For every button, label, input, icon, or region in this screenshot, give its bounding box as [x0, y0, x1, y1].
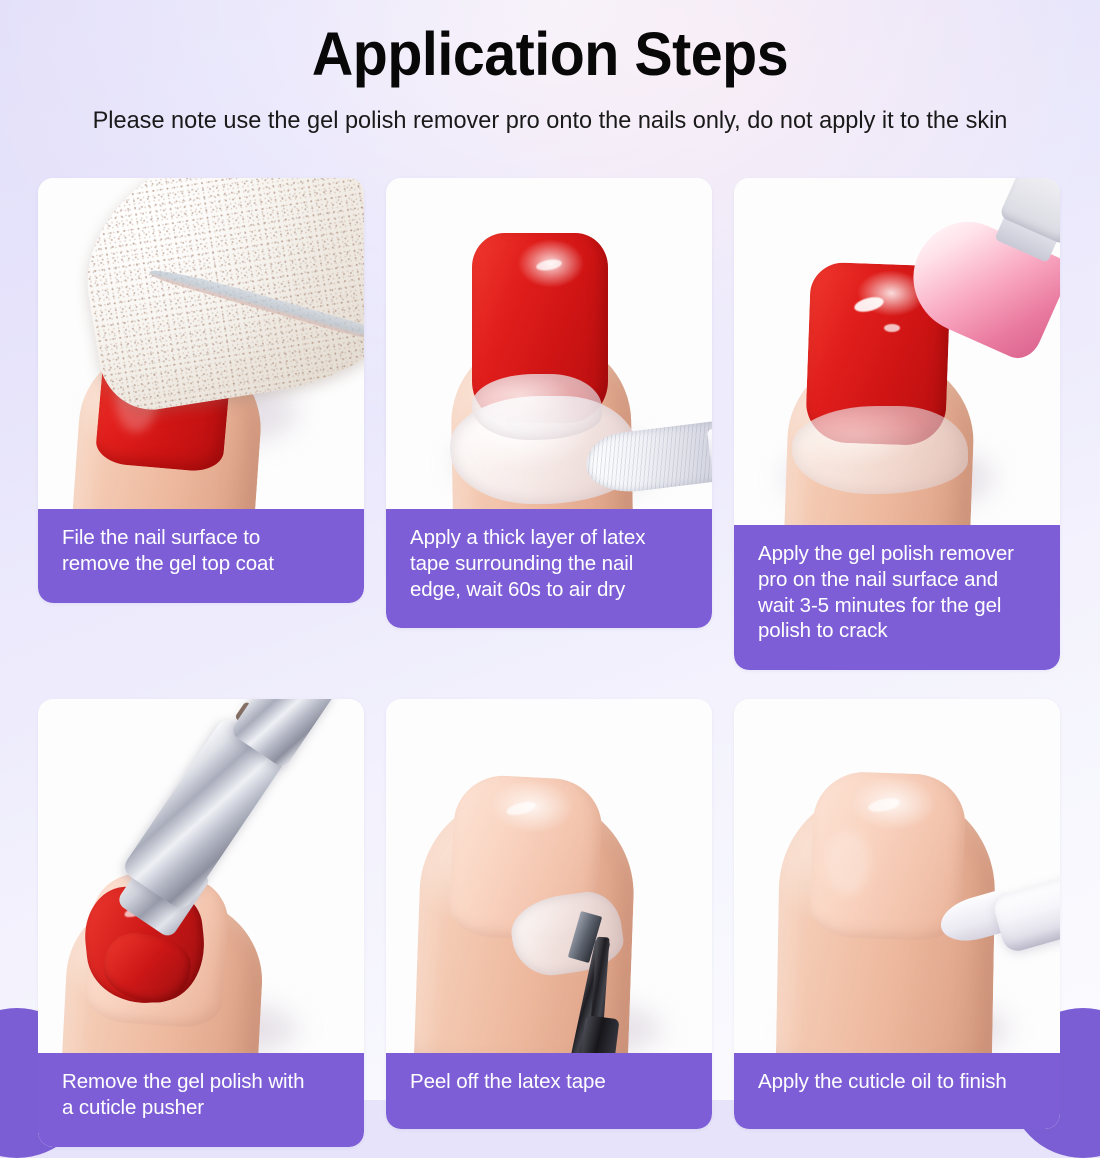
page-subtitle: Please note use the gel polish remover p… [22, 107, 1078, 135]
poster-background: Application Steps Please note use the ge… [0, 0, 1100, 1100]
steps-row-2: Remove the gel polish with a cuticle pus… [38, 699, 1062, 1147]
step-caption-4: Remove the gel polish with a cuticle pus… [38, 1053, 364, 1147]
steps-grid: File the nail surface to remove the gel … [38, 178, 1062, 1147]
step-caption-5: Peel off the latex tape [386, 1053, 712, 1129]
caption-line: Apply a thick layer of latex [410, 525, 692, 551]
caption-line: remove the gel top coat [62, 551, 344, 577]
step-caption-2: Apply a thick layer of latex tape surrou… [386, 509, 712, 628]
step-image-3 [734, 178, 1060, 525]
step-image-2 [386, 178, 712, 509]
caption-line: Apply the cuticle oil to finish [758, 1069, 1040, 1095]
step-card-1[interactable]: File the nail surface to remove the gel … [38, 178, 364, 603]
caption-line: edge, wait 60s to air dry [410, 577, 692, 603]
page-title: Application Steps [33, 24, 1067, 85]
caption-line: pro on the nail surface and [758, 567, 1040, 593]
caption-line: wait 3-5 minutes for the gel [758, 593, 1040, 619]
tweezers-body [578, 1015, 619, 1053]
step-card-5[interactable]: Peel off the latex tape [386, 699, 712, 1129]
step-image-1 [38, 178, 364, 509]
caption-line: Peel off the latex tape [410, 1069, 692, 1095]
poster-header: Application Steps Please note use the ge… [0, 24, 1100, 135]
caption-line: polish to crack [758, 618, 1040, 644]
nail-file [68, 178, 364, 417]
caption-line: a cuticle pusher [62, 1095, 344, 1121]
step-card-2[interactable]: Apply a thick layer of latex tape surrou… [386, 178, 712, 628]
caption-line: Apply the gel polish remover [758, 541, 1040, 567]
step-image-4 [38, 699, 364, 1053]
step-caption-1: File the nail surface to remove the gel … [38, 509, 364, 603]
step-caption-6: Apply the cuticle oil to finish [734, 1053, 1060, 1129]
step-card-6[interactable]: Apply the cuticle oil to finish [734, 699, 1060, 1129]
steps-row-1: File the nail surface to remove the gel … [38, 178, 1062, 670]
step-card-3[interactable]: Apply the gel polish remover pro on the … [734, 178, 1060, 670]
caption-line: tape surrounding the nail [410, 551, 692, 577]
step-image-5 [386, 699, 712, 1053]
step-card-4[interactable]: Remove the gel polish with a cuticle pus… [38, 699, 364, 1147]
caption-line: Remove the gel polish with [62, 1069, 344, 1095]
caption-line: File the nail surface to [62, 525, 344, 551]
step-image-6 [734, 699, 1060, 1053]
step-caption-3: Apply the gel polish remover pro on the … [734, 525, 1060, 670]
cuticle-oil-pen [991, 858, 1060, 955]
